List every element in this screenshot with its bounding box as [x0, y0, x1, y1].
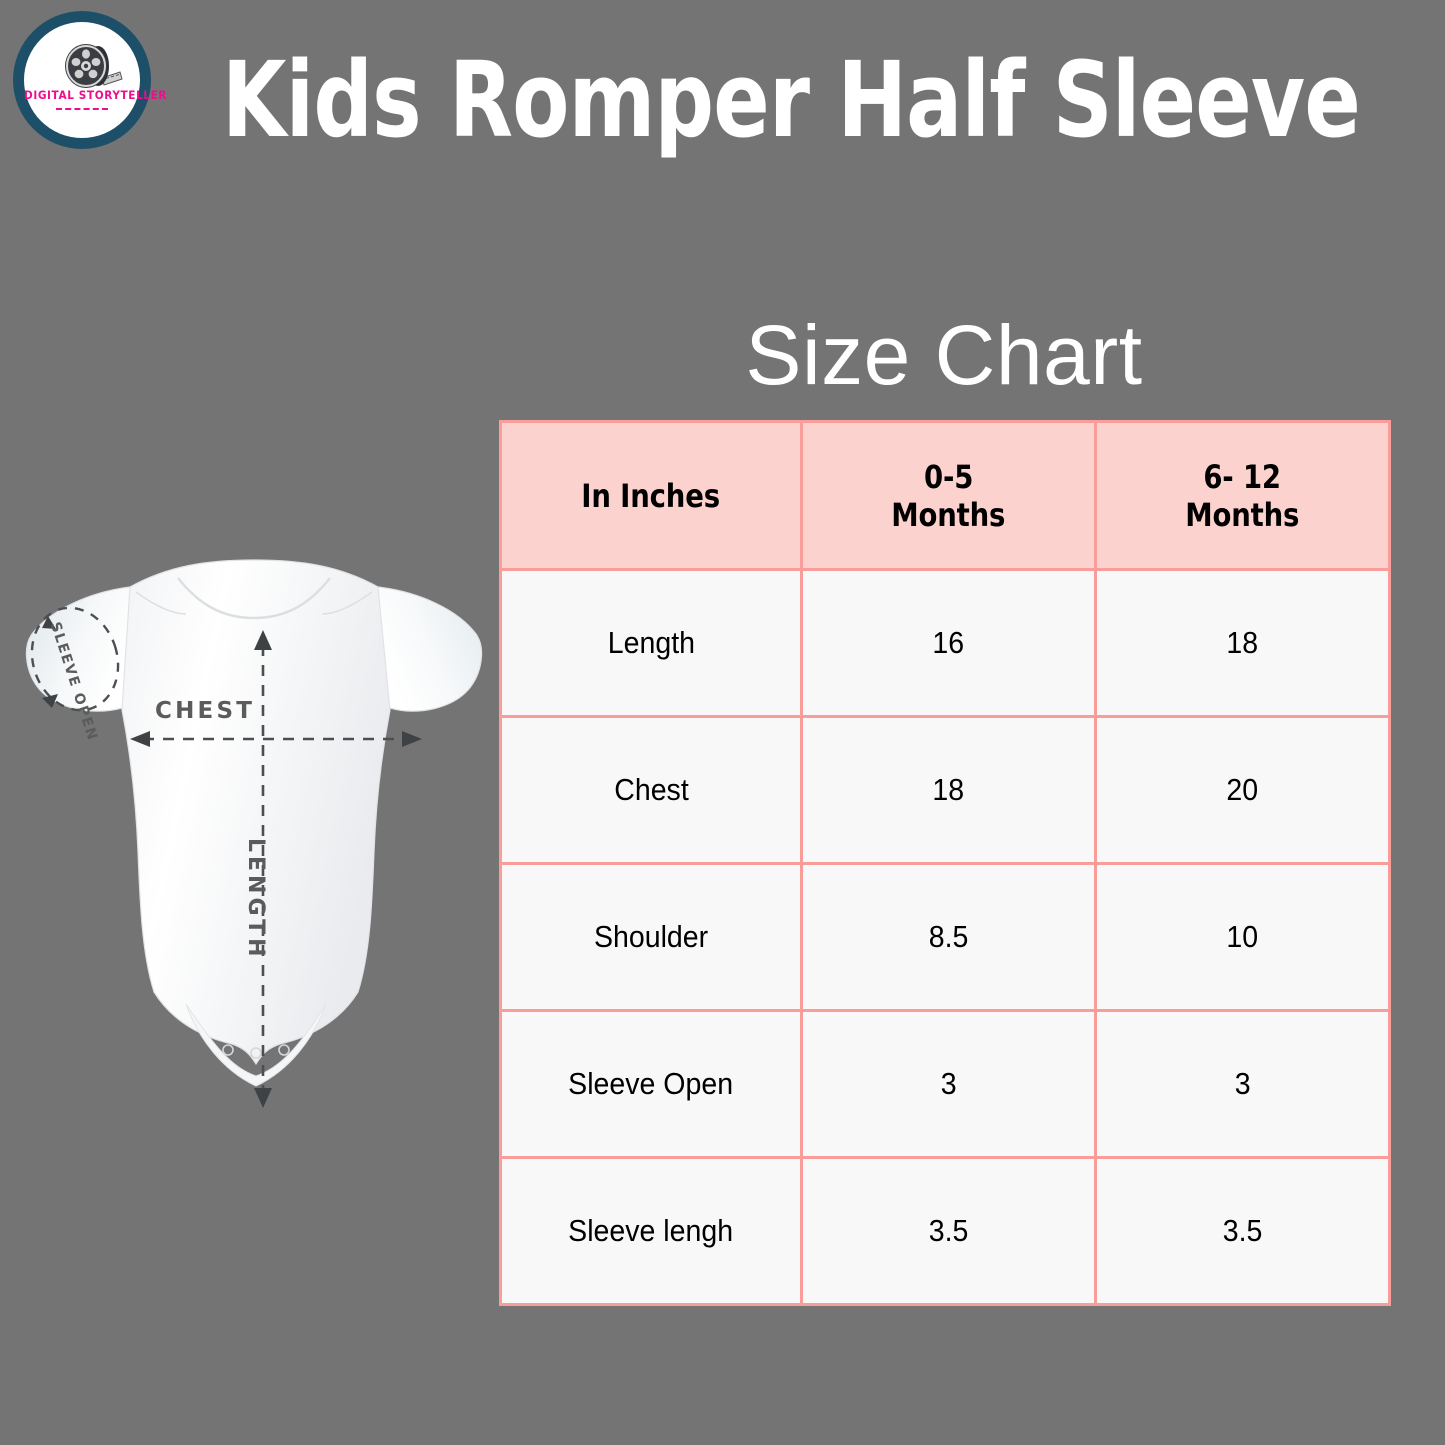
- cell-text: 20: [1227, 772, 1259, 808]
- row-label-sleeve-open: Sleeve Open: [501, 1011, 802, 1158]
- cell-text: 8.5: [929, 919, 969, 955]
- column-header-0-5-months: 0-5 Months: [802, 422, 1096, 570]
- table-row: Length 16 18: [501, 570, 1390, 717]
- column-header-6-12-months-line1: 6- 12: [1204, 458, 1282, 496]
- cell-text: 3.5: [1223, 1213, 1263, 1249]
- cell-text: 3: [1235, 1066, 1251, 1102]
- cell-chest-0-5: 18: [802, 717, 1096, 864]
- table-header-row: In Inches 0-5 Months 6- 12 Months: [501, 422, 1390, 570]
- cell-sleeve-length-0-5: 3.5: [802, 1158, 1096, 1305]
- column-header-6-12-months: 6- 12 Months: [1096, 422, 1390, 570]
- cell-text: Length: [607, 625, 694, 661]
- cell-text: 18: [933, 772, 965, 808]
- table-row: Sleeve Open 3 3: [501, 1011, 1390, 1158]
- cell-chest-6-12: 20: [1096, 717, 1390, 864]
- cell-text: 3: [941, 1066, 957, 1102]
- logo-dashed-underline: [56, 108, 108, 110]
- cell-shoulder-0-5: 8.5: [802, 864, 1096, 1011]
- column-header-measurement: In Inches: [501, 422, 802, 570]
- size-chart-heading: Size Chart: [499, 307, 1389, 403]
- page-title: Kids Romper Half Sleeve: [222, 44, 1030, 156]
- column-header-0-5-months-line1: 0-5: [924, 458, 973, 496]
- cell-text: Shoulder: [594, 919, 708, 955]
- cell-text: Sleeve lengh: [569, 1213, 734, 1249]
- logo-brand-text: DIGITAL STORYTELLER: [24, 90, 140, 103]
- row-label-length: Length: [501, 570, 802, 717]
- table-row: Sleeve lengh 3.5 3.5: [501, 1158, 1390, 1305]
- column-header-measurement-line1: In Inches: [582, 477, 721, 515]
- brand-logo: DIGITAL STORYTELLER: [13, 11, 151, 149]
- cell-sleeve-length-6-12: 3.5: [1096, 1158, 1390, 1305]
- cell-length-6-12: 18: [1096, 570, 1390, 717]
- cell-text: 3.5: [929, 1213, 969, 1249]
- cell-text: 18: [1227, 625, 1259, 661]
- cell-sleeve-open-6-12: 3: [1096, 1011, 1390, 1158]
- size-chart-table: In Inches 0-5 Months 6- 12 Months Length…: [499, 420, 1391, 1306]
- table-row: Shoulder 8.5 10: [501, 864, 1390, 1011]
- logo-face: DIGITAL STORYTELLER: [24, 22, 140, 138]
- cell-text: 16: [933, 625, 965, 661]
- row-label-shoulder: Shoulder: [501, 864, 802, 1011]
- length-measure-label: LENGTH: [243, 838, 268, 961]
- cell-text: 10: [1227, 919, 1259, 955]
- column-header-6-12-months-line2: Months: [1185, 496, 1299, 534]
- column-header-0-5-months-line2: Months: [891, 496, 1005, 534]
- chest-measure-label: CHEST: [155, 698, 255, 724]
- cell-shoulder-6-12: 10: [1096, 864, 1390, 1011]
- cell-sleeve-open-0-5: 3: [802, 1011, 1096, 1158]
- cell-text: Chest: [614, 772, 689, 808]
- row-label-sleeve-length: Sleeve lengh: [501, 1158, 802, 1305]
- cell-length-0-5: 16: [802, 570, 1096, 717]
- row-label-chest: Chest: [501, 717, 802, 864]
- film-reel-icon: [62, 42, 124, 94]
- table-row: Chest 18 20: [501, 717, 1390, 864]
- cell-text: Sleeve Open: [569, 1066, 734, 1102]
